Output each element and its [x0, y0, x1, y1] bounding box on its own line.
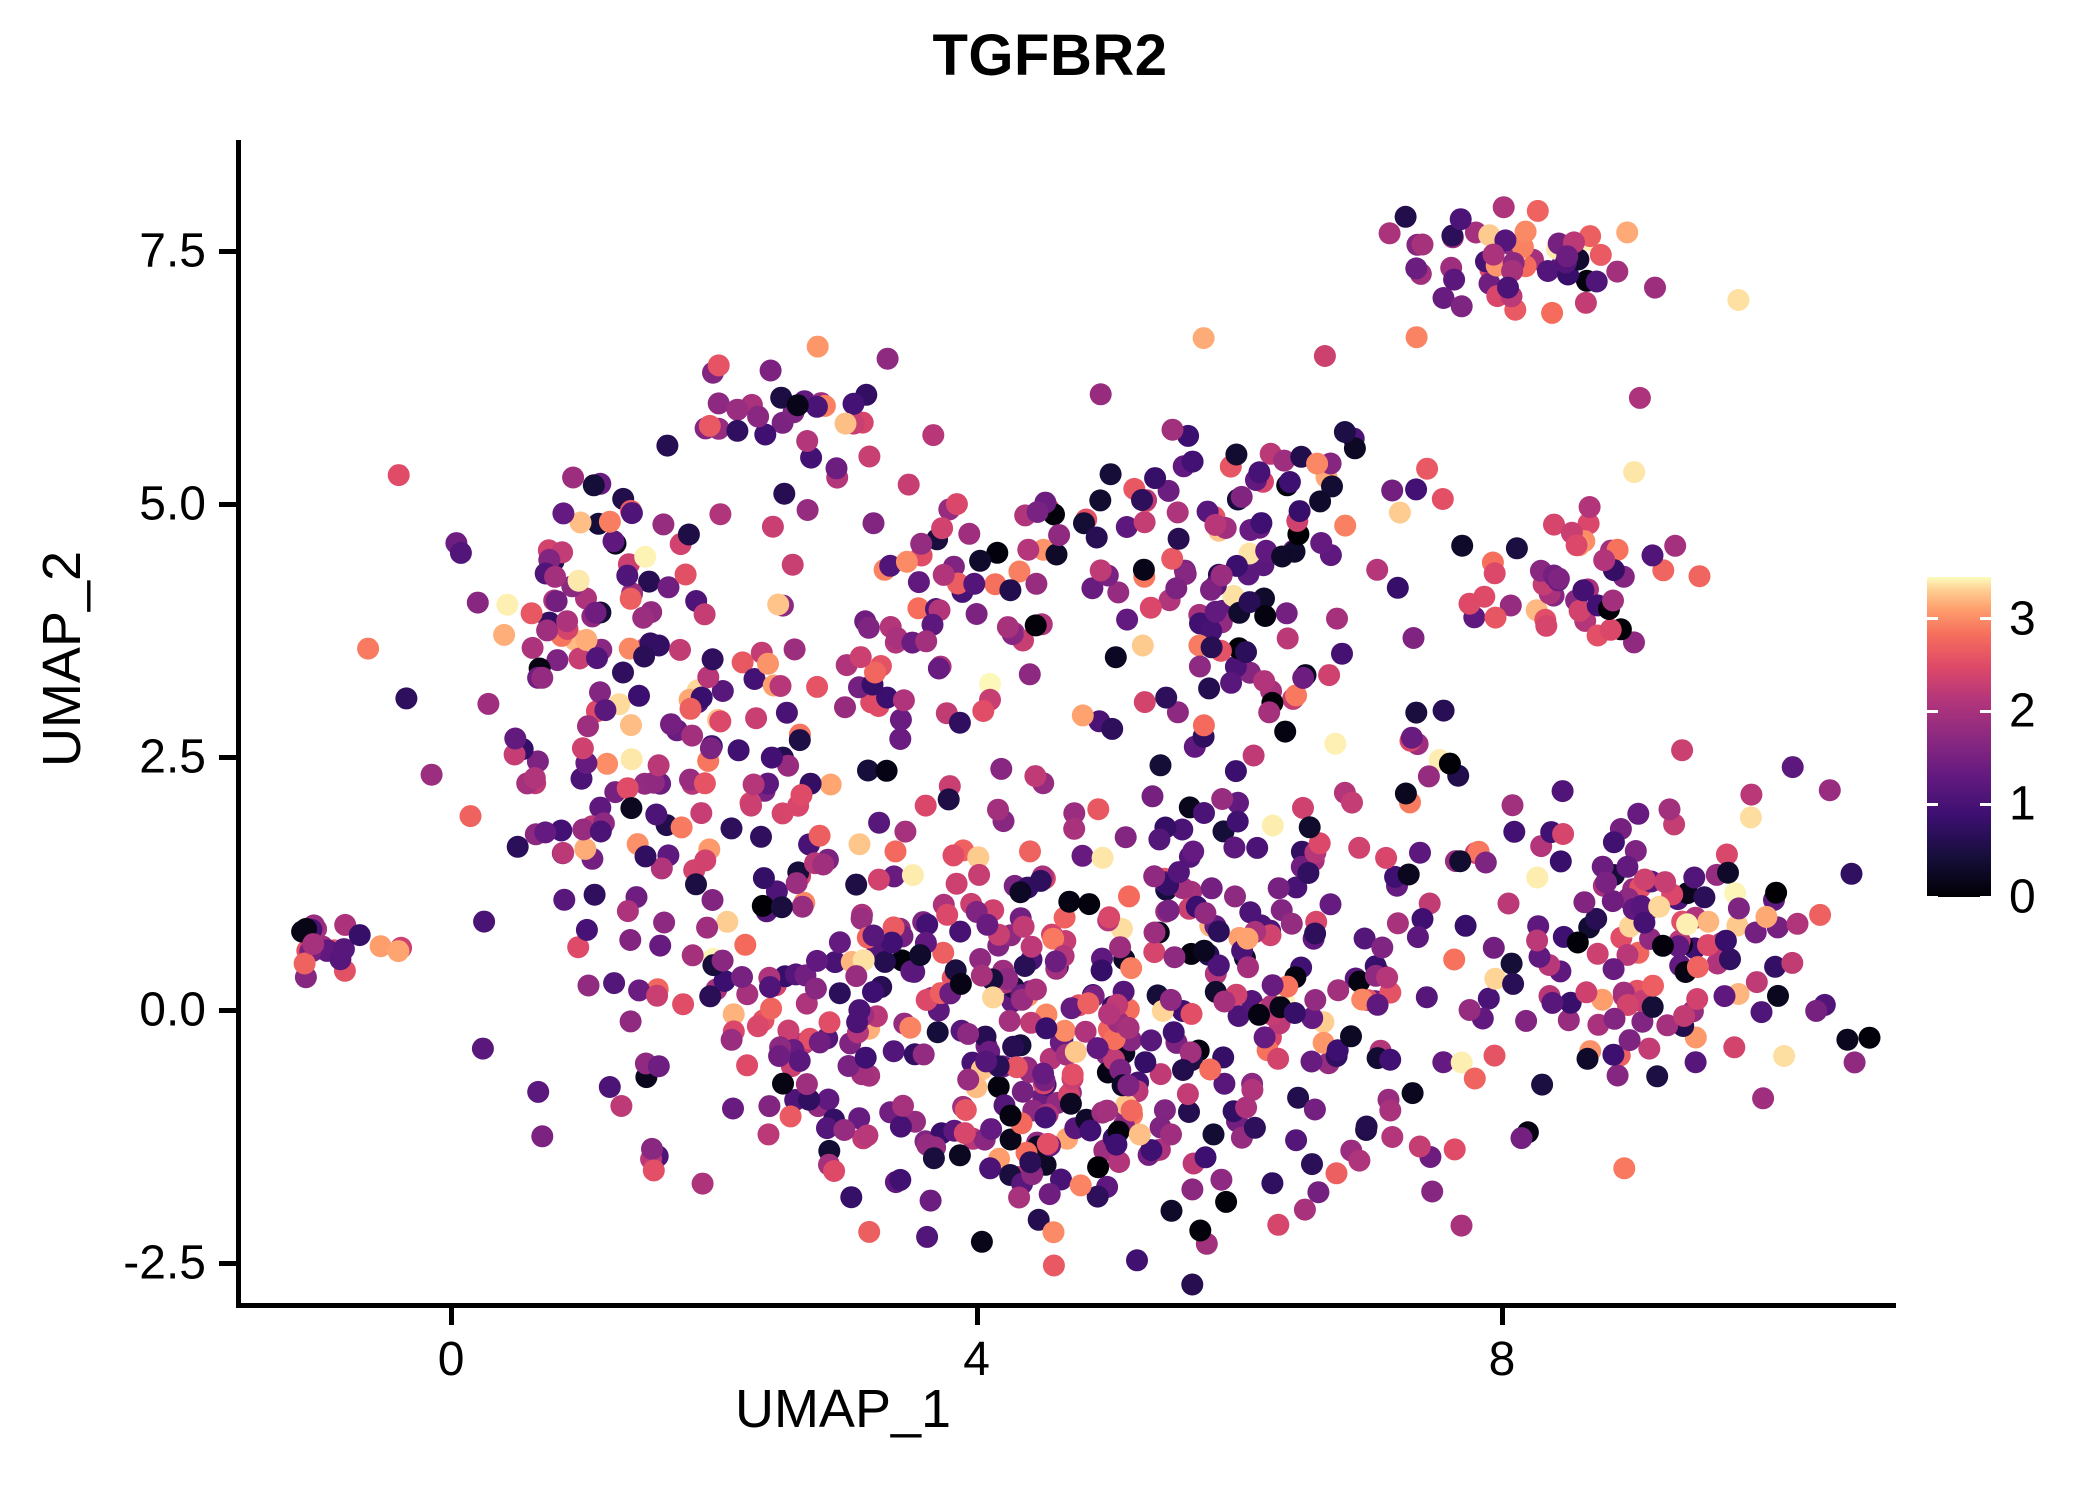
scatter-point: [1717, 862, 1739, 884]
scatter-point: [1045, 950, 1067, 972]
scatter-point: [708, 354, 730, 376]
scatter-point: [1131, 489, 1153, 511]
scatter-point: [890, 709, 912, 731]
scatter-point: [927, 1021, 949, 1043]
scatter-point: [916, 1226, 938, 1248]
scatter-point: [1181, 1274, 1203, 1296]
scatter-point: [855, 1047, 877, 1069]
scatter-point: [757, 653, 779, 675]
scatter-point: [726, 420, 748, 442]
colorbar-legend: 0123: [1927, 577, 1991, 897]
scatter-point: [1752, 1087, 1774, 1109]
scatter-point: [562, 467, 584, 489]
scatter-point: [772, 1073, 794, 1095]
scatter-point: [1021, 936, 1043, 958]
scatter-point: [1459, 999, 1481, 1021]
scatter-point: [923, 1147, 945, 1169]
scatter-point: [1243, 745, 1265, 767]
scatter-point: [1402, 1082, 1424, 1104]
scatter-point: [1464, 1068, 1486, 1090]
scatter-point: [771, 896, 793, 918]
scatter-point: [722, 1098, 744, 1120]
scatter-point: [1210, 1169, 1232, 1191]
scatter-point: [752, 895, 774, 917]
colorbar-tick-label: 3: [2009, 591, 2036, 646]
scatter-point: [1198, 677, 1220, 699]
page-title: TGFBR2: [0, 22, 2100, 89]
scatter-point: [596, 753, 618, 775]
scatter-point: [524, 767, 546, 789]
scatter-point: [1193, 714, 1215, 736]
scatter-point: [1602, 590, 1624, 612]
scatter-point: [958, 523, 980, 545]
scatter-point: [784, 638, 806, 660]
x-tick-mark: [1500, 1308, 1505, 1325]
scatter-point: [892, 1095, 914, 1117]
scatter-point: [1714, 985, 1736, 1007]
colorbar-gradient: [1927, 577, 1991, 897]
scatter-point: [976, 914, 998, 936]
scatter-point: [1292, 667, 1314, 689]
scatter-point: [971, 1231, 993, 1253]
scatter-point: [1652, 935, 1674, 957]
scatter-point: [1689, 565, 1711, 587]
scatter-point: [1593, 549, 1615, 571]
scatter-point: [760, 360, 782, 382]
scatter-point: [357, 638, 379, 660]
scatter-point: [885, 840, 907, 862]
scatter-point: [586, 647, 608, 669]
scatter-point: [915, 630, 937, 652]
scatter-point: [1220, 672, 1242, 694]
scatter-point: [1072, 845, 1094, 867]
scatter-point: [635, 845, 657, 867]
scatter-point: [1409, 1136, 1431, 1158]
scatter-point: [696, 917, 718, 939]
scatter-point: [692, 1173, 714, 1195]
scatter-point: [1019, 663, 1041, 685]
scatter-point: [620, 588, 642, 610]
scatter-point: [1451, 295, 1473, 317]
x-axis-line: [236, 1303, 1896, 1308]
scatter-point: [819, 1011, 841, 1033]
scatter-point: [1158, 900, 1180, 922]
scatter-point: [574, 838, 596, 860]
scatter-point: [1167, 501, 1189, 523]
scatter-point: [768, 1045, 790, 1067]
scatter-point: [681, 725, 703, 747]
scatter-point: [1602, 890, 1624, 912]
scatter-point: [1211, 788, 1233, 810]
scatter-point: [823, 1160, 845, 1182]
scatter-point: [1751, 1001, 1773, 1023]
scatter-point: [1019, 1151, 1041, 1173]
scatter-point: [858, 617, 880, 639]
scatter-point: [477, 693, 499, 715]
scatter-point: [1379, 1100, 1401, 1122]
scatter-point: [1235, 1097, 1257, 1119]
scatter-point: [1211, 564, 1233, 586]
scatter-point: [898, 474, 920, 496]
scatter-point: [969, 550, 991, 572]
scatter-point: [702, 889, 724, 911]
scatter-point: [1371, 937, 1393, 959]
scatter-point: [997, 616, 1019, 638]
scatter-point: [660, 713, 682, 735]
scatter-point: [1502, 794, 1524, 816]
scatter-point: [1048, 524, 1070, 546]
scatter-point: [1433, 700, 1455, 722]
scatter-point: [1261, 1172, 1283, 1194]
scatter-point: [936, 904, 958, 926]
scatter-point: [805, 978, 827, 1000]
scatter-point: [1616, 856, 1638, 878]
scatter-point: [694, 603, 716, 625]
scatter-point: [1254, 1026, 1276, 1048]
scatter-point: [1416, 458, 1438, 480]
y-axis-title: UMAP_2: [31, 349, 93, 969]
scatter-point: [1403, 627, 1425, 649]
scatter-point: [460, 805, 482, 827]
scatter-point: [493, 624, 515, 646]
scatter-point: [1215, 1191, 1237, 1213]
scatter-point: [1307, 1181, 1329, 1203]
scatter-point: [504, 728, 526, 750]
scatter-point: [1859, 1027, 1881, 1049]
scatter-point: [770, 675, 792, 697]
scatter-point: [1573, 891, 1595, 913]
scatter-point: [1334, 421, 1356, 443]
scatter-point: [843, 393, 865, 415]
scatter-point: [797, 499, 819, 521]
scatter-point: [1043, 1255, 1065, 1277]
scatter-point: [675, 564, 697, 586]
scatter-point: [1324, 733, 1346, 755]
scatter-point: [1633, 912, 1655, 934]
scatter-point: [792, 896, 814, 918]
scatter-point: [467, 592, 489, 614]
scatter-point: [1060, 1093, 1082, 1115]
scatter-point: [1155, 687, 1177, 709]
scatter-point: [966, 603, 988, 625]
scatter-point: [603, 530, 625, 552]
scatter-point: [576, 919, 598, 941]
scatter-point: [890, 1116, 912, 1138]
scatter-point: [1809, 904, 1831, 926]
scatter-point: [1586, 271, 1608, 293]
scatter-point: [1306, 453, 1328, 475]
scatter-point: [531, 667, 553, 689]
colorbar-tick-mark: [1927, 710, 1938, 713]
scatter-point: [1526, 867, 1548, 889]
scatter-point: [1836, 1029, 1858, 1051]
scatter-point: [1642, 544, 1664, 566]
scatter-point: [1676, 913, 1698, 935]
scatter-point: [858, 1221, 880, 1243]
scatter-point: [1024, 765, 1046, 787]
scatter-point: [845, 965, 867, 987]
scatter-point: [773, 483, 795, 505]
scatter-point: [922, 424, 944, 446]
scatter-point: [850, 646, 872, 668]
scatter-point: [1493, 196, 1515, 218]
colorbar-tick-mark: [1927, 803, 1938, 806]
scatter-point: [726, 399, 748, 421]
scatter-point: [1550, 850, 1572, 872]
scatter-point: [747, 1015, 769, 1037]
scatter-point: [734, 934, 756, 956]
scatter-point: [1014, 955, 1036, 977]
scatter-point: [1723, 1036, 1745, 1058]
scatter-point: [1248, 461, 1270, 483]
scatter-point: [990, 758, 1012, 780]
scatter-point: [1117, 1075, 1139, 1097]
scatter-point: [791, 784, 813, 806]
scatter-point: [1320, 893, 1342, 915]
scatter-point: [568, 570, 590, 592]
scatter-point: [1395, 783, 1417, 805]
scatter-point: [1485, 607, 1507, 629]
scatter-point: [590, 821, 612, 843]
scatter-point: [1646, 1065, 1668, 1087]
scatter-point: [1142, 785, 1164, 807]
scatter-point: [1405, 257, 1427, 279]
scatter-point: [846, 1011, 868, 1033]
scatter-point: [656, 435, 678, 457]
scatter-point: [910, 533, 932, 555]
scatter-point: [1805, 1000, 1827, 1022]
scatter-point: [1164, 946, 1186, 968]
scatter-point: [1208, 921, 1230, 943]
scatter-point: [1501, 953, 1523, 975]
scatter-point: [1133, 559, 1155, 581]
scatter-point: [1254, 605, 1276, 627]
scatter-point: [709, 710, 731, 732]
x-tick-mark: [449, 1308, 454, 1325]
scatter-point: [534, 821, 556, 843]
scatter-point: [1150, 754, 1172, 776]
scatter-point: [610, 1095, 632, 1117]
scatter-point: [1715, 930, 1737, 952]
scatter-plot-area: [241, 140, 1896, 1303]
scatter-point: [1572, 579, 1594, 601]
scatter-point: [1483, 937, 1505, 959]
scatter-point: [877, 348, 899, 370]
scatter-point: [909, 944, 931, 966]
scatter-point: [849, 833, 871, 855]
scatter-point: [760, 998, 782, 1020]
scatter-point: [943, 844, 965, 866]
scatter-point: [796, 1073, 818, 1095]
scatter-point: [1654, 871, 1676, 893]
scatter-point: [1844, 1051, 1866, 1073]
scatter-point: [349, 924, 371, 946]
scatter-point: [1258, 701, 1280, 723]
scatter-point: [1030, 870, 1052, 892]
scatter-point: [1025, 979, 1047, 1001]
scatter-point: [1683, 867, 1705, 889]
scatter-point: [1304, 1099, 1326, 1121]
colorbar-tick-mark: [1980, 803, 1991, 806]
scatter-point: [552, 502, 574, 524]
scatter-point: [1087, 798, 1109, 820]
scatter-point: [1237, 956, 1259, 978]
scatter-point: [1116, 609, 1138, 631]
scatter-point: [617, 777, 639, 799]
scatter-point: [920, 1190, 942, 1212]
scatter-point: [1193, 940, 1215, 962]
scatter-point: [1037, 1133, 1059, 1155]
scatter-point: [806, 950, 828, 972]
scatter-point: [1497, 277, 1519, 299]
scatter-point: [1398, 864, 1420, 886]
y-tick-label: 2.5: [139, 729, 206, 784]
scatter-point: [634, 546, 656, 568]
scatter-point: [931, 517, 953, 539]
scatter-point: [1032, 1063, 1054, 1085]
scatter-point: [572, 737, 594, 759]
scatter-point: [1231, 486, 1253, 508]
scatter-point: [553, 889, 575, 911]
y-tick-mark: [219, 1261, 236, 1266]
scatter-point: [950, 973, 972, 995]
scatter-point: [1046, 544, 1068, 566]
scatter-point: [1058, 891, 1080, 913]
scatter-point: [1531, 1074, 1553, 1096]
scatter-point: [473, 911, 495, 933]
colorbar-tick-label: 1: [2009, 777, 2036, 832]
scatter-point: [796, 430, 818, 452]
scatter-points-layer: [241, 140, 1896, 1303]
scatter-point: [863, 925, 885, 947]
scatter-point: [1673, 1005, 1695, 1027]
scatter-point: [1310, 532, 1332, 554]
scatter-point: [1118, 1017, 1140, 1039]
scatter-point: [1685, 1051, 1707, 1073]
scatter-point: [1327, 979, 1349, 1001]
scatter-point: [556, 610, 578, 632]
scatter-point: [1387, 577, 1409, 599]
scatter-point: [883, 1040, 905, 1062]
scatter-point: [1379, 1049, 1401, 1071]
scatter-point: [975, 1050, 997, 1072]
scatter-point: [1168, 528, 1190, 550]
scatter-point: [949, 1144, 971, 1166]
scatter-point: [599, 511, 621, 533]
scatter-point: [1613, 1157, 1635, 1179]
scatter-point: [1199, 1059, 1221, 1081]
scatter-point: [1177, 1083, 1199, 1105]
scatter-point: [1284, 1002, 1306, 1024]
scatter-point: [767, 594, 789, 616]
scatter-point: [1289, 500, 1311, 522]
scatter-point: [728, 739, 750, 761]
scatter-point: [721, 1029, 743, 1051]
scatter-point: [1235, 641, 1257, 663]
scatter-point: [1268, 877, 1290, 899]
scatter-point: [1755, 906, 1777, 928]
scatter-point: [472, 1038, 494, 1060]
scatter-point: [1644, 277, 1666, 299]
scatter-point: [1687, 956, 1709, 978]
scatter-point: [1629, 387, 1651, 409]
scatter-point: [577, 715, 599, 737]
scatter-point: [612, 662, 634, 684]
scatter-point: [1165, 577, 1187, 599]
scatter-point: [894, 821, 916, 843]
scatter-point: [1132, 635, 1154, 657]
scatter-point: [1595, 871, 1617, 893]
scatter-point: [1089, 489, 1111, 511]
scatter-point: [712, 950, 734, 972]
scatter-point: [1091, 959, 1113, 981]
scatter-point: [522, 637, 544, 659]
scatter-point: [946, 873, 968, 895]
scatter-point: [633, 646, 655, 668]
scatter-point: [1292, 797, 1314, 819]
scatter-point: [1566, 534, 1588, 556]
scatter-point: [1389, 502, 1411, 524]
scatter-point: [731, 966, 753, 988]
scatter-point: [1341, 792, 1363, 814]
scatter-point: [1239, 901, 1261, 923]
scatter-point: [915, 795, 937, 817]
scatter-point: [1483, 244, 1505, 266]
scatter-point: [1181, 1003, 1203, 1025]
scatter-point: [856, 1124, 878, 1146]
scatter-point: [619, 929, 641, 951]
scatter-point: [1129, 1124, 1151, 1146]
scatter-point: [1719, 948, 1741, 970]
scatter-point: [1326, 1162, 1348, 1184]
scatter-point: [1225, 760, 1247, 782]
scatter-point: [1140, 1029, 1162, 1051]
scatter-point: [1087, 1037, 1109, 1059]
scatter-point: [1025, 573, 1047, 595]
scatter-point: [641, 1138, 663, 1160]
scatter-point: [521, 602, 543, 624]
scatter-point: [1160, 989, 1182, 1011]
umap-feature-plot: TGFBR2 UMAP_2 UMAP_1 -2.50.02.55.07.5 04…: [0, 0, 2100, 1500]
scatter-point: [862, 981, 884, 1003]
scatter-point: [1575, 981, 1597, 1003]
scatter-point: [584, 884, 606, 906]
scatter-point: [1451, 1215, 1473, 1237]
scatter-point: [1019, 840, 1041, 862]
scatter-point: [1526, 930, 1548, 952]
scatter-point: [1118, 885, 1140, 907]
scatter-point: [1205, 601, 1227, 623]
colorbar-tick-mark: [1980, 710, 1991, 713]
x-tick-label: 0: [438, 1332, 465, 1387]
scatter-point: [750, 826, 772, 848]
scatter-point: [1412, 234, 1434, 256]
scatter-point: [1627, 803, 1649, 825]
scatter-point: [1246, 837, 1268, 859]
scatter-point: [1250, 512, 1272, 534]
scatter-point: [874, 951, 896, 973]
scatter-point: [1421, 1181, 1443, 1203]
scatter-point: [1181, 1178, 1203, 1200]
scatter-point: [1035, 1017, 1057, 1039]
scatter-point: [1334, 515, 1356, 537]
scatter-point: [868, 869, 890, 891]
scatter-point: [1475, 852, 1497, 874]
scatter-point: [1013, 916, 1035, 938]
scatter-point: [1054, 1020, 1076, 1042]
scatter-point: [1375, 847, 1397, 869]
scatter-point: [979, 1157, 1001, 1179]
